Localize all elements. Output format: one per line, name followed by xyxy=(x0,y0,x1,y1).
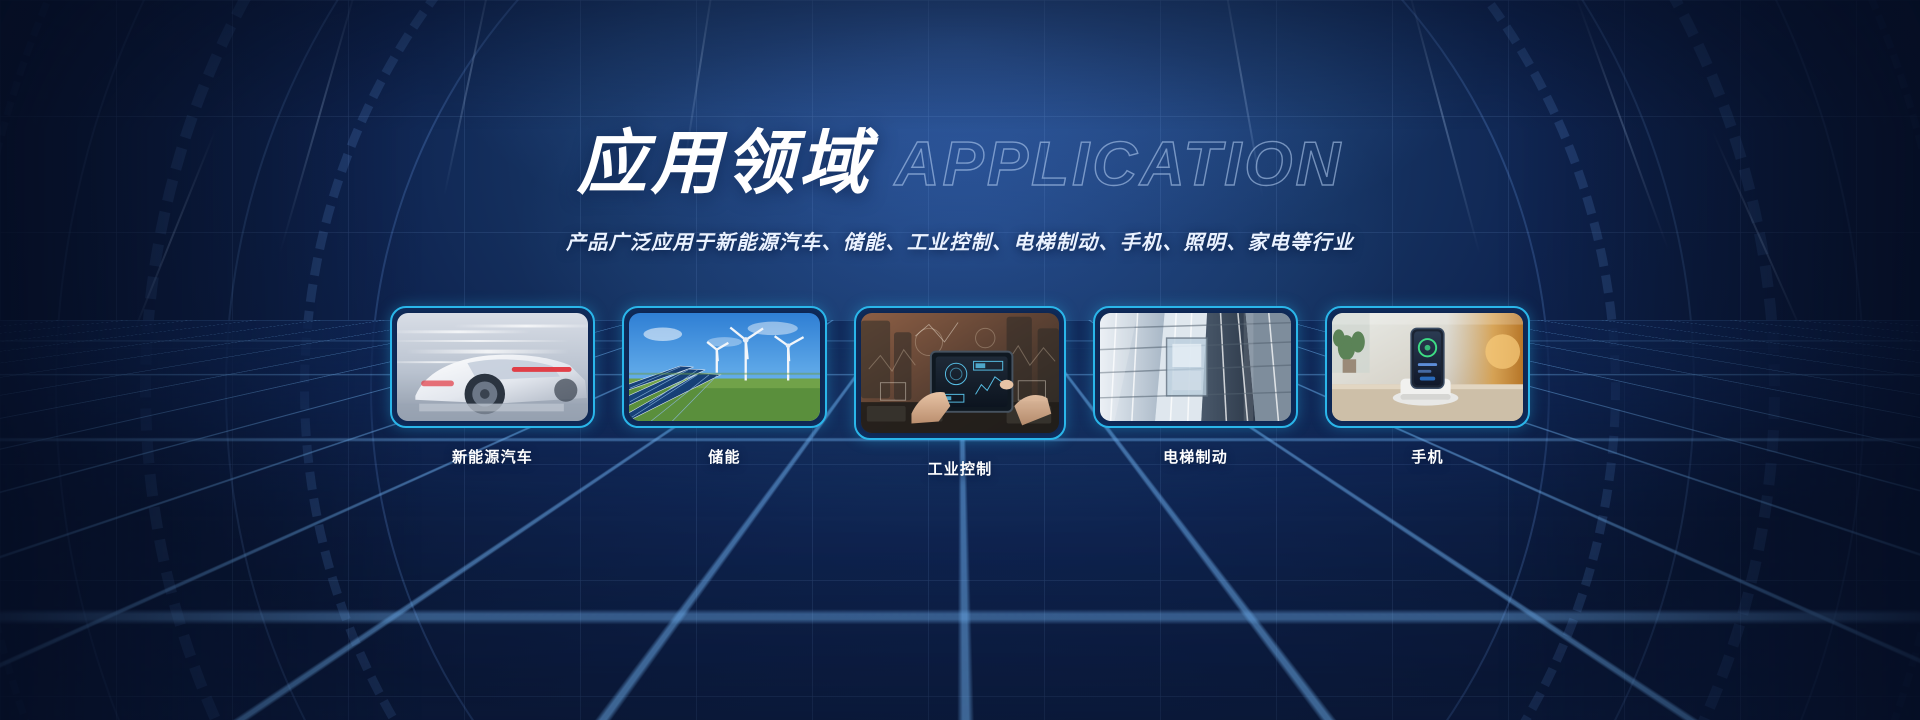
card-label: 手机 xyxy=(1411,446,1443,467)
application-card-new-energy-vehicle[interactable]: 新能源汽车 xyxy=(390,306,595,467)
electric-vehicle-photo xyxy=(397,313,588,421)
elevator-braking-photo xyxy=(1100,313,1291,421)
card-frame[interactable] xyxy=(854,306,1066,440)
card-frame[interactable] xyxy=(622,306,827,428)
card-label: 新能源汽车 xyxy=(452,446,533,467)
application-card-elevator-braking[interactable]: 电梯制动 xyxy=(1093,306,1298,467)
card-frame[interactable] xyxy=(1325,306,1530,428)
application-card-mobile-phone[interactable]: 手机 xyxy=(1325,306,1530,467)
card-label: 储能 xyxy=(708,446,740,467)
application-banner: 应用领域 APPLICATION 产品广泛应用于新能源汽车、储能、工业控制、电梯… xyxy=(0,0,1920,720)
card-label: 工业控制 xyxy=(928,458,993,479)
page-subtitle: 产品广泛应用于新能源汽车、储能、工业控制、电梯制动、手机、照明、家电等行业 xyxy=(0,226,1920,255)
application-card-list: 新能源汽车 xyxy=(0,306,1920,479)
page-title-en: APPLICATION xyxy=(895,134,1344,198)
industrial-control-tablet-photo xyxy=(861,313,1059,433)
card-frame[interactable] xyxy=(1093,306,1298,428)
page-title-cn: 应用领域 xyxy=(577,128,873,198)
banner-content: 应用领域 APPLICATION 产品广泛应用于新能源汽车、储能、工业控制、电梯… xyxy=(0,0,1920,720)
card-label: 电梯制动 xyxy=(1163,446,1228,467)
solar-wind-energy-storage-photo xyxy=(629,313,820,421)
smartphone-wireless-charger-photo xyxy=(1332,313,1523,421)
application-card-energy-storage[interactable]: 储能 xyxy=(622,306,827,467)
application-card-industrial-control[interactable]: 工业控制 xyxy=(854,306,1066,479)
title-row: 应用领域 APPLICATION xyxy=(0,128,1920,198)
card-frame[interactable] xyxy=(390,306,595,428)
